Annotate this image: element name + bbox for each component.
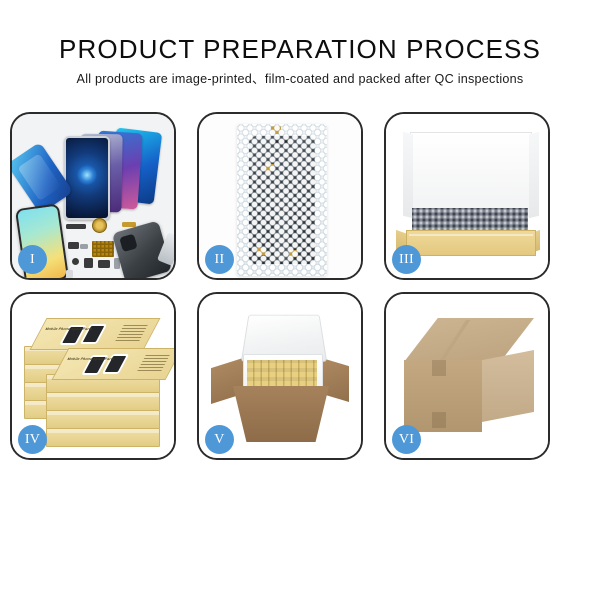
yellow-boxes-shading xyxy=(247,360,317,390)
box-stack: Mobile Phone Spare Parts Mobile Phone Sp… xyxy=(24,312,164,444)
header: PRODUCT PREPARATION PROCESS All products… xyxy=(0,34,600,87)
product-preparation-infographic: PRODUCT PREPARATION PROCESS All products… xyxy=(0,0,600,600)
step-panel-6: VI xyxy=(384,292,550,460)
stacked-box-top: Mobile Phone Spare Parts xyxy=(29,318,160,350)
speaker-coil-icon xyxy=(92,218,107,233)
box-label-lines xyxy=(137,355,170,371)
step-badge-3: III xyxy=(392,245,421,274)
step-panel-5: V xyxy=(197,292,363,460)
box-label-lines xyxy=(115,325,148,341)
page-title: PRODUCT PREPARATION PROCESS xyxy=(0,34,600,64)
box-white-lid-icon xyxy=(410,132,532,217)
part-module-icon xyxy=(98,260,110,268)
box-label-text: Mobile Phone Spare Parts xyxy=(45,327,94,331)
carton-flap-tab-icon xyxy=(432,360,446,376)
carton-side-face-icon xyxy=(482,350,534,422)
box-label-text: Mobile Phone Spare Parts xyxy=(67,357,116,361)
steps-grid: I II xyxy=(10,112,590,460)
step-panel-1: I xyxy=(10,112,176,280)
step-panel-3: III xyxy=(384,112,550,280)
carton-body-icon xyxy=(233,386,329,442)
step-badge-5: V xyxy=(205,425,234,454)
part-cube-icon xyxy=(84,258,93,268)
step-badge-1: I xyxy=(18,245,47,274)
step-panel-2: II xyxy=(197,112,363,280)
stacked-box xyxy=(46,428,160,447)
part-strip-icon xyxy=(66,224,86,229)
step-badge-6: VI xyxy=(392,425,421,454)
stacked-box xyxy=(46,410,160,429)
carton-flap-tab-icon xyxy=(432,412,446,428)
bubble-wrap-package xyxy=(237,124,327,276)
bubble-texture xyxy=(237,124,327,276)
stacked-box-top: Mobile Phone Spare Parts xyxy=(51,348,174,380)
step-badge-4: IV xyxy=(18,425,47,454)
page-subtitle: All products are image-printed、film-coat… xyxy=(0,71,600,87)
part-round-icon xyxy=(72,258,79,265)
step-panel-4: Mobile Phone Spare Parts Mobile Phone Sp… xyxy=(10,292,176,460)
step-badge-2: II xyxy=(205,245,234,274)
stacked-box xyxy=(46,392,160,411)
part-clip-icon xyxy=(80,244,88,249)
chip-array-icon xyxy=(92,241,114,257)
kraft-box-base-icon xyxy=(406,230,536,256)
part-block-icon xyxy=(68,242,79,249)
phone-screen-dark-icon xyxy=(64,136,110,220)
grey-foam-insert-icon xyxy=(412,208,528,232)
part-small-icon xyxy=(66,270,73,278)
